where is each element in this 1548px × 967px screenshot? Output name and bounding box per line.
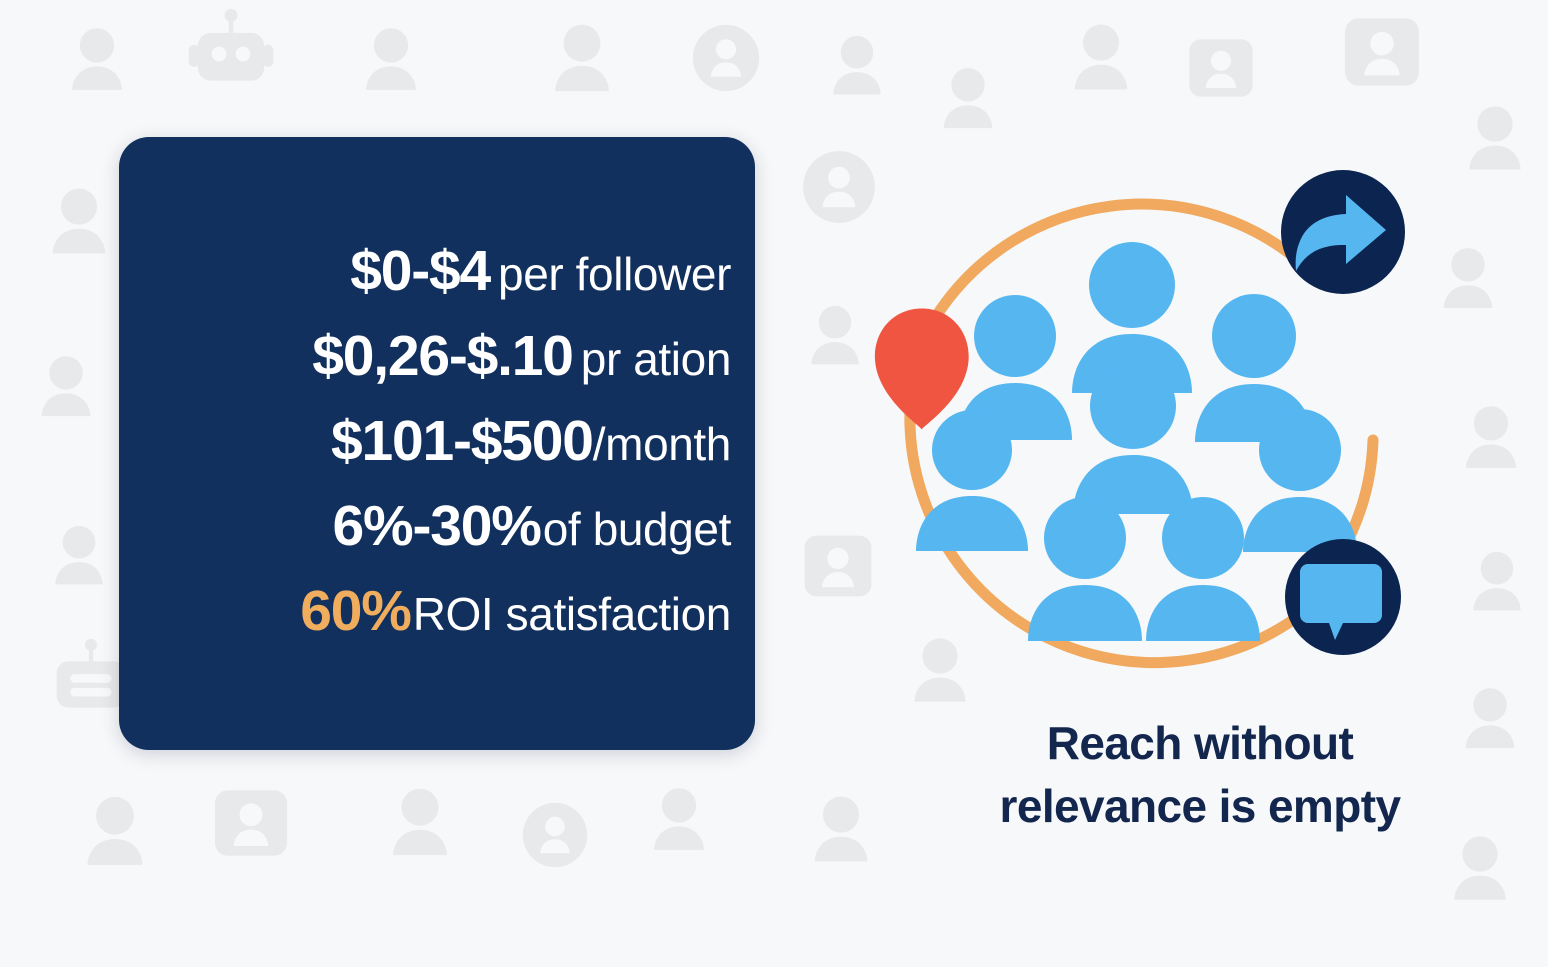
- person-icon: [1028, 497, 1142, 641]
- person-icon: [1460, 546, 1534, 620]
- stat-value-highlight: 60%: [300, 579, 410, 643]
- stat-value: $0-$4: [350, 239, 490, 303]
- stat-row: 60%ROI satisfaction: [143, 569, 731, 654]
- person-icon: [930, 62, 1006, 138]
- person-icon: [352, 22, 430, 100]
- stat-label: pr ation: [573, 333, 731, 385]
- person-icon: [820, 30, 894, 104]
- person-icon: [378, 782, 462, 866]
- stats-card: $0-$4per follower $0,26-$.10pr ation $10…: [119, 137, 755, 750]
- stat-row: $101-$500/month: [143, 399, 731, 484]
- caption-line-1: Reach without: [930, 712, 1470, 775]
- badge-person-icon: [210, 782, 292, 864]
- comment-badge[interactable]: [1285, 539, 1401, 655]
- stat-row: $0,26-$.10pr ation: [143, 314, 731, 399]
- person-icon: [640, 782, 718, 860]
- person-icon: [28, 350, 104, 426]
- person-icon: [72, 790, 158, 876]
- heart-icon: [875, 308, 969, 429]
- share-badge[interactable]: [1281, 170, 1405, 294]
- avatar-circle-icon: [520, 800, 590, 870]
- stat-label: /month: [593, 418, 731, 470]
- stat-row: $0-$4per follower: [143, 229, 731, 314]
- person-icon: [38, 182, 120, 264]
- robot-icon: [185, 8, 277, 100]
- stat-label: of budget: [541, 503, 731, 555]
- person-icon: [42, 520, 116, 594]
- person-icon: [1440, 830, 1520, 910]
- avatar-circle-icon: [690, 22, 762, 94]
- person-icon: [58, 22, 136, 100]
- stat-label: ROI satisfaction: [411, 588, 731, 640]
- person-icon: [1060, 18, 1142, 100]
- person-icon: [1146, 497, 1260, 641]
- person-icon: [1452, 400, 1530, 478]
- infographic-canvas: $0-$4per follower $0,26-$.10pr ation $10…: [0, 0, 1548, 967]
- stat-value: $0,26-$.10: [312, 324, 573, 388]
- community-illustration: [830, 140, 1450, 730]
- badge-person-icon: [1185, 32, 1257, 104]
- badge-person-icon: [1340, 10, 1424, 94]
- stat-value: 6%-30%: [333, 494, 541, 558]
- person-icon: [540, 18, 624, 102]
- stat-row: 6%-30%of budget: [143, 484, 731, 569]
- stat-value: $101-$500: [331, 409, 593, 473]
- caption: Reach without relevance is empty: [930, 712, 1470, 837]
- caption-line-2: relevance is empty: [930, 775, 1470, 838]
- person-icon: [800, 790, 882, 872]
- person-icon: [1455, 100, 1535, 180]
- stat-label: per follower: [490, 248, 731, 300]
